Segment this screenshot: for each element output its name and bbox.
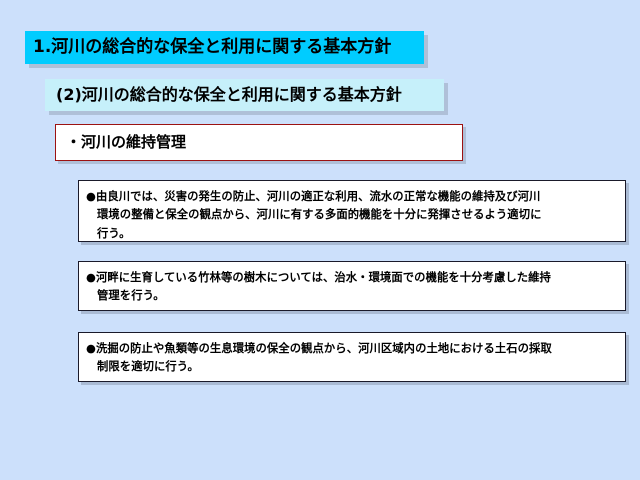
bullet-box-2: ●河畔に生育している竹林等の樹木については、治水・環境面での機能を十分考慮した維…: [78, 261, 626, 311]
bullet-text-1: ●由良川では、災害の発生の防止、河川の適正な利用、流水の正常な機能の維持及び河川…: [86, 188, 617, 243]
section-heading-box: ・河川の維持管理: [55, 124, 463, 161]
slide-subtitle-bar: (2)河川の総合的な保全と利用に関する基本方針: [45, 79, 444, 111]
slide-title-text: 1.河川の総合的な保全と利用に関する基本方針: [33, 39, 391, 56]
bullet-box-3: ●洗掘の防止や魚類等の生息環境の保全の観点から、河川区域内の土地における土石の採…: [78, 332, 626, 382]
bullet-text-2: ●河畔に生育している竹林等の樹木については、治水・環境面での機能を十分考慮した維…: [86, 269, 617, 306]
bullet-box-1: ●由良川では、災害の発生の防止、河川の適正な利用、流水の正常な機能の維持及び河川…: [78, 180, 626, 242]
bullet-text-3: ●洗掘の防止や魚類等の生息環境の保全の観点から、河川区域内の土地における土石の採…: [86, 340, 617, 377]
slide-subtitle-text: (2)河川の総合的な保全と利用に関する基本方針: [56, 87, 402, 103]
slide-canvas: 1.河川の総合的な保全と利用に関する基本方針 (2)河川の総合的な保全と利用に関…: [0, 0, 640, 480]
slide-title-bar: 1.河川の総合的な保全と利用に関する基本方針: [25, 31, 424, 64]
section-heading-text: ・河川の維持管理: [66, 135, 186, 150]
